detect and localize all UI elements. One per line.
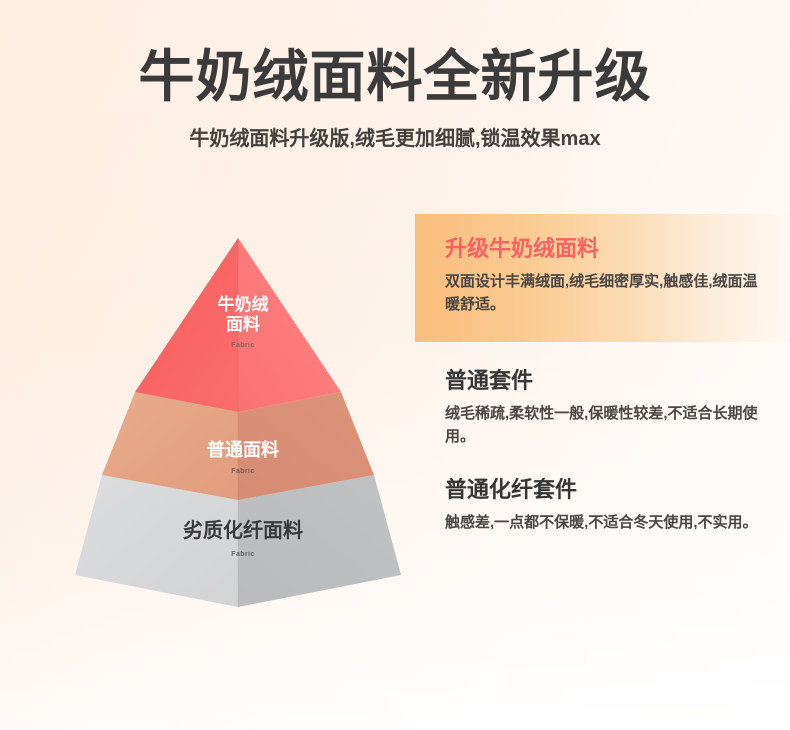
header: 牛奶绒面料全新升级 牛奶绒面料升级版,绒毛更加细腻,锁温效果max [0,46,790,151]
feature-block-ordinary-set: 普通套件 绒毛稀疏,柔软性一般,保暖性较差,不适合长期使用。 [415,342,790,449]
fabric-quality-pyramid: 牛奶绒 面料 Fabric 普通面料 Fabric 劣质化纤面料 Fabric [50,215,430,625]
page-subtitle: 牛奶绒面料升级版,绒毛更加细腻,锁温效果max [0,122,790,151]
pyramid-graphic [50,215,430,625]
feature-body-upgraded-milk-velvet: 双面设计丰满绒面,绒毛细密厚实,触感佳,绒面温暖舒适。 [445,271,765,317]
page-title: 牛奶绒面料全新升级 [0,46,790,109]
feature-body-ordinary-set: 绒毛稀疏,柔软性一般,保暖性较差,不适合长期使用。 [445,403,765,449]
product-detail-page: 牛奶绒面料全新升级 牛奶绒面料升级版,绒毛更加细腻,锁温效果max [0,0,790,730]
feature-body-ordinary-synthetic-set: 触感差,一点都不保暖,不适合冬天使用,不实用。 [445,512,765,535]
feature-title-ordinary-set: 普通套件 [445,368,772,394]
feature-title-upgraded-milk-velvet: 升级牛奶绒面料 [445,236,772,262]
feature-title-ordinary-synthetic-set: 普通化纤套件 [445,477,772,503]
feature-list: 升级牛奶绒面料 双面设计丰满绒面,绒毛细密厚实,触感佳,绒面温暖舒适。 普通套件… [415,214,790,535]
feature-block-upgraded-milk-velvet: 升级牛奶绒面料 双面设计丰满绒面,绒毛细密厚实,触感佳,绒面温暖舒适。 [415,214,790,342]
feature-block-ordinary-synthetic-set: 普通化纤套件 触感差,一点都不保暖,不适合冬天使用,不实用。 [415,449,790,535]
